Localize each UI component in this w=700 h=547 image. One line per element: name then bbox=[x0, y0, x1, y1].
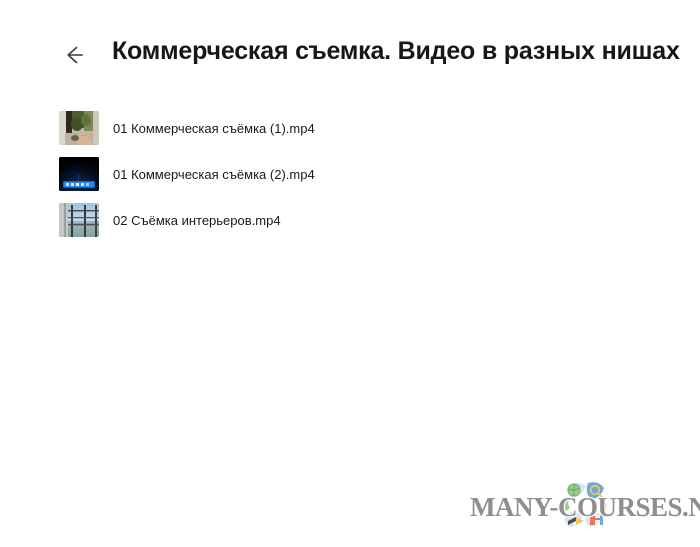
list-item-label: 01 Коммерческая съёмка (2).mp4 bbox=[113, 166, 315, 183]
list-item[interactable]: 01 Коммерческая съёмка (1).mp4 bbox=[0, 108, 700, 148]
list-item[interactable]: 01 Коммерческая съёмка (2).mp4 bbox=[0, 154, 700, 194]
page-title: Коммерческая съемка. Видео в разных ниша… bbox=[112, 35, 680, 67]
outdoor-greenery-hand-thumbnail bbox=[59, 111, 99, 145]
page-header: Коммерческая съемка. Видео в разных ниша… bbox=[0, 0, 700, 70]
balcony-cityscape-thumbnail bbox=[59, 203, 99, 237]
dark-blue-light-thumbnail bbox=[59, 157, 99, 191]
list-item-label: 01 Коммерческая съёмка (1).mp4 bbox=[113, 120, 315, 137]
watermark: MANY-COURSES.NET bbox=[470, 474, 680, 538]
list-item[interactable]: 02 Съёмка интерьеров.mp4 bbox=[0, 200, 700, 240]
circular-courses-logo-icon bbox=[554, 474, 616, 536]
list-item-label: 02 Съёмка интерьеров.mp4 bbox=[113, 212, 281, 229]
arrow-left-icon bbox=[60, 42, 86, 68]
watermark-text: MANY-COURSES.NET bbox=[470, 492, 680, 522]
back-button[interactable] bbox=[59, 41, 87, 69]
file-list: 01 Коммерческая съёмка (1).mp4 bbox=[0, 108, 700, 246]
